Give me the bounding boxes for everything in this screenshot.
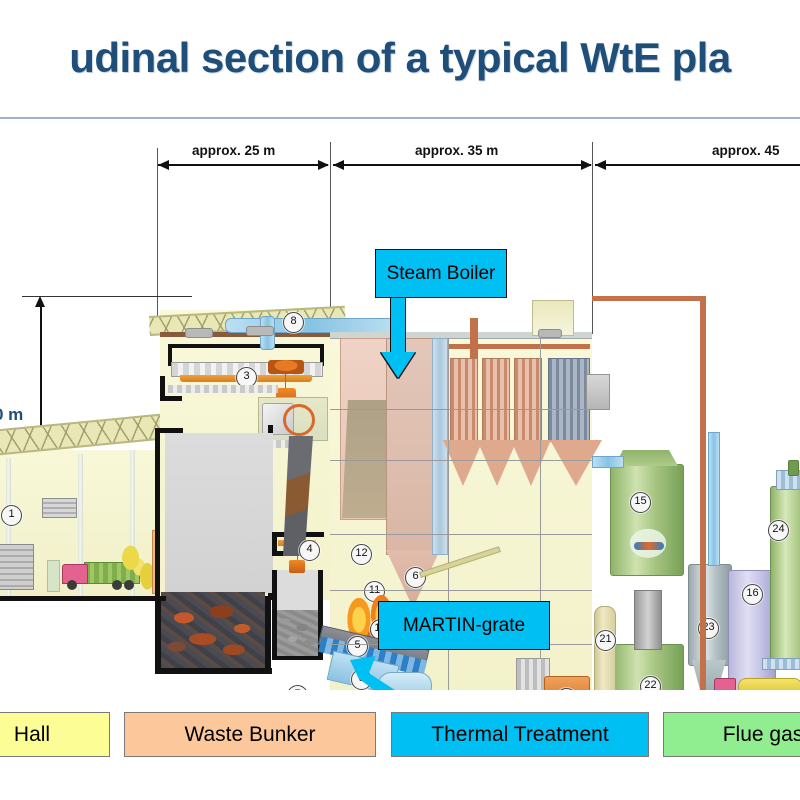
martin-grate-callout-label: MARTIN-grate <box>403 615 525 637</box>
legend-item-waste-bunker[interactable]: Waste Bunker <box>124 712 376 757</box>
scrubber-support-column <box>634 590 662 650</box>
tanker-barrel <box>738 678 800 690</box>
legend-item-hall[interactable]: Hall <box>0 712 110 757</box>
stack-riser-pipe <box>700 296 706 690</box>
boiler-riser-pipe <box>470 318 478 358</box>
tanker-cab <box>714 678 736 690</box>
callout-number-21: 21 <box>595 630 616 651</box>
dim-arrow-35m-right <box>581 160 592 170</box>
legend-item-flue-gas[interactable]: Flue gas <box>663 712 800 757</box>
waste-bunker-void <box>165 433 273 593</box>
bottom-ash-pile <box>277 610 318 656</box>
flue-gas-downcomer <box>708 432 720 566</box>
bunker-wall-ledge <box>160 396 182 401</box>
height-top-hairline <box>22 296 192 297</box>
truck-wheel-front <box>67 580 77 590</box>
legend-item-thermal-treatment[interactable]: Thermal Treatment <box>391 712 649 757</box>
callout-number-16: 16 <box>742 584 763 605</box>
callout-number-1: 1 <box>1 505 22 526</box>
steam-boiler-callout[interactable]: Steam Boiler <box>375 249 507 298</box>
height-arrow-up <box>35 296 45 307</box>
dim-label-25m: approx. 25 m <box>192 143 275 158</box>
service-hoist-grab <box>289 560 305 573</box>
dim-line-25m <box>158 164 328 166</box>
callout-number-15: 15 <box>630 492 651 513</box>
title-divider <box>0 117 800 119</box>
steam-boiler-arrow-head <box>381 352 415 378</box>
dim-divider-right <box>592 142 593 334</box>
dim-line-35m <box>333 164 591 166</box>
tube-bank-1 <box>450 358 478 442</box>
dim-arrow-45m-left <box>595 160 606 170</box>
hall-wall-louvre <box>42 498 77 518</box>
legend-label-hall: Hall <box>14 723 50 747</box>
grab-hoop <box>283 404 315 436</box>
steam-boiler-arrow-shaft <box>390 296 406 358</box>
page-title: udinal section of a typical WtE pla <box>0 34 800 82</box>
bunker-wall-left-mid <box>155 428 160 598</box>
stack-top-crossover <box>592 296 704 301</box>
roof-fan-2 <box>246 326 274 336</box>
boiler-house-floor-3 <box>330 534 592 535</box>
steam-boiler-callout-label: Steam Boiler <box>387 263 496 285</box>
legend-label-waste-bunker: Waste Bunker <box>184 723 315 747</box>
bunker-pit-floor <box>155 668 272 674</box>
crane-trolley <box>268 360 304 374</box>
legend-bar: Hall Waste Bunker Thermal Treatment Flue… <box>0 690 800 800</box>
callout-number-4: 4 <box>299 540 320 561</box>
ground-line-left <box>0 596 166 601</box>
dim-line-45m <box>595 164 800 166</box>
roof-vent-cap <box>538 329 562 338</box>
dim-divider-left <box>157 148 158 330</box>
dim-arrow-25m-right <box>318 160 329 170</box>
legend-label-thermal-treatment: Thermal Treatment <box>431 723 608 747</box>
scrubber-internals <box>618 518 678 564</box>
bunker-platform-upper <box>168 385 278 393</box>
callout-number-12: 12 <box>351 544 372 565</box>
plant-section-diagram: approx. 25 m approx. 35 m approx. 45 0 m <box>0 120 800 690</box>
boiler-house-floor-2 <box>330 460 592 461</box>
bunker-pit-wall-right <box>265 596 271 674</box>
dim-label-45m: approx. 45 <box>712 143 780 158</box>
economiser-bank <box>548 358 590 442</box>
martin-grate-callout[interactable]: MARTIN-grate <box>378 601 550 650</box>
tube-bank-2 <box>482 358 510 442</box>
waste-pile <box>161 592 265 668</box>
ash-hopper-3 <box>511 440 551 486</box>
tube-bank-3 <box>514 358 542 442</box>
dim-arrow-35m-left <box>333 160 344 170</box>
crane-rail-top <box>168 344 324 348</box>
silo-discharge-platform <box>762 658 800 670</box>
height-dim-label: 0 m <box>0 405 23 425</box>
boiler-house-floor-1 <box>330 409 592 410</box>
roof-fan-1 <box>185 328 213 338</box>
boiler-outlet-duct <box>586 374 610 410</box>
reagent-silo-24 <box>770 486 800 662</box>
legend-label-flue-gas: Flue gas <box>723 723 800 747</box>
boiler-house-floor-4 <box>330 590 592 591</box>
scrubber-spray-nozzle <box>634 542 664 550</box>
silo-vent <box>788 460 799 476</box>
hall-roller-door <box>0 544 34 590</box>
flue-gas-interconnect <box>592 456 624 468</box>
dim-label-35m: approx. 35 m <box>415 143 498 158</box>
callout-number-22: 22 <box>640 676 661 690</box>
reagent-tanker-truck <box>714 676 800 690</box>
screenshot-root: udinal section of a typical WtE pla appr… <box>0 0 800 800</box>
dim-arrow-25m-left <box>158 160 169 170</box>
callout-number-24: 24 <box>768 520 789 541</box>
hall-column-box <box>47 560 60 592</box>
callout-number-8: 8 <box>283 312 304 333</box>
bag-filter-23 <box>688 564 732 666</box>
